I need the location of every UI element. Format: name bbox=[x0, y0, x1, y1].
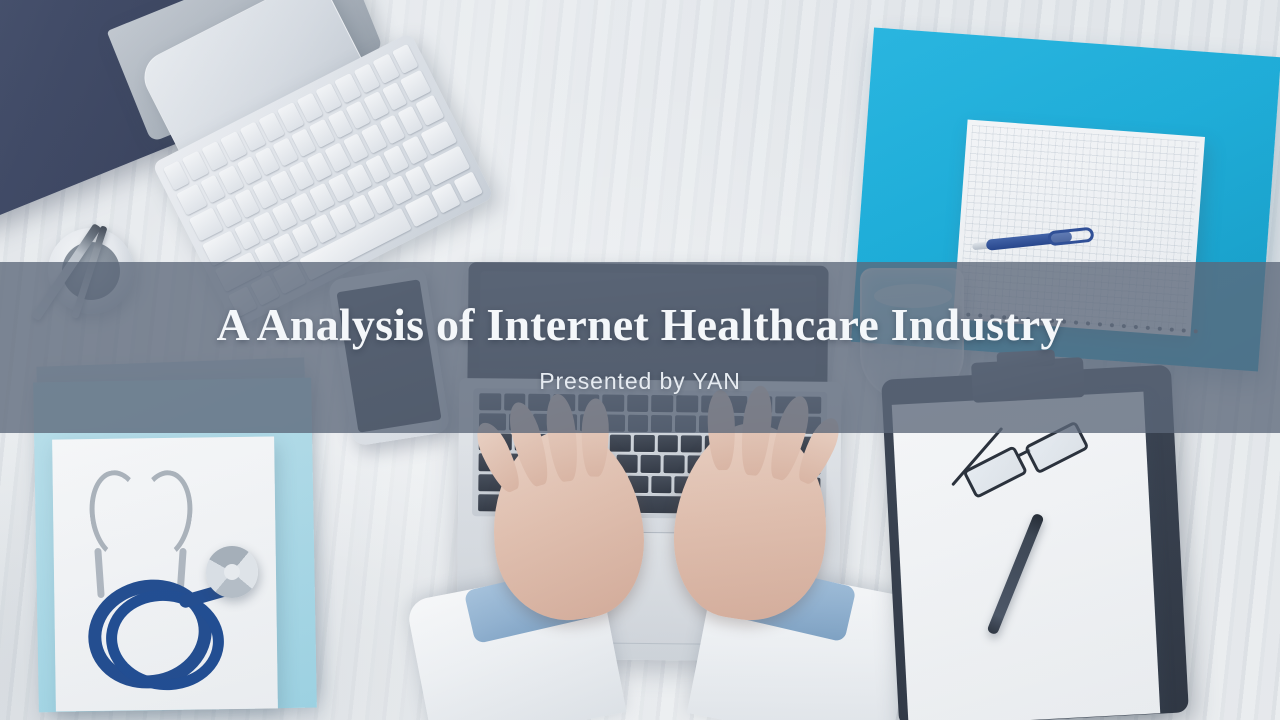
title-slide: A Analysis of Internet Healthcare Indust… bbox=[0, 0, 1280, 720]
stethoscope-chestpiece bbox=[206, 546, 258, 598]
title-overlay-band: A Analysis of Internet Healthcare Indust… bbox=[0, 262, 1280, 433]
slide-subtitle: Presented by YAN bbox=[539, 368, 741, 395]
page-title: A Analysis of Internet Healthcare Indust… bbox=[216, 302, 1063, 348]
